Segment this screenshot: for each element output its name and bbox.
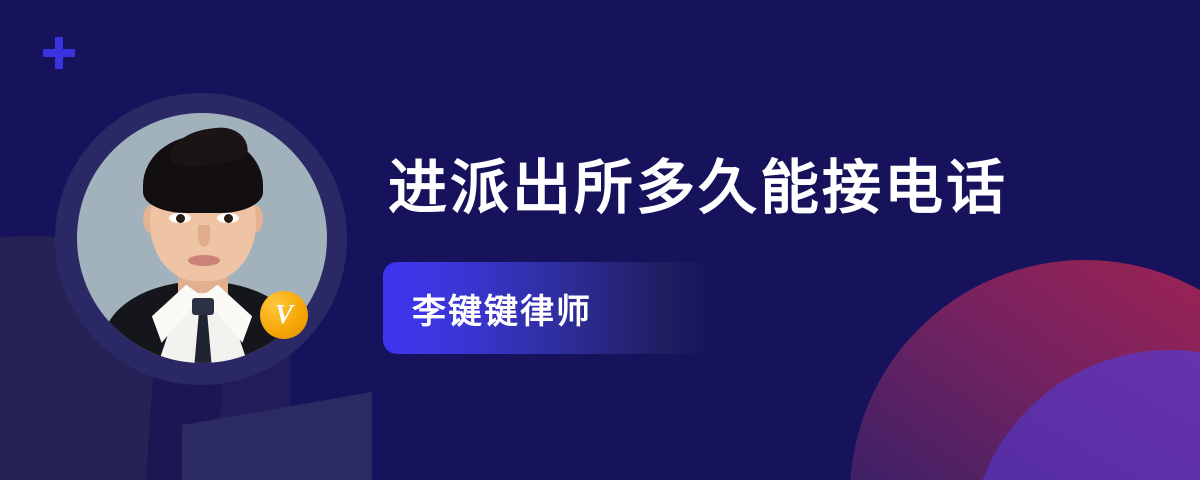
plus-icon-bar-vertical bbox=[55, 37, 63, 69]
portrait-pupil-left bbox=[176, 214, 185, 223]
lawyer-topic-banner: V 进派出所多久能接电话 李键键律师 bbox=[0, 0, 1200, 480]
avatar: V bbox=[55, 93, 347, 385]
verified-badge-letter: V bbox=[275, 301, 293, 328]
portrait-pupil-right bbox=[224, 214, 233, 223]
portrait-mouth bbox=[188, 255, 220, 266]
plus-icon bbox=[43, 37, 75, 69]
verified-badge-icon: V bbox=[260, 291, 308, 339]
lawyer-name-label: 李键键律师 bbox=[383, 284, 592, 333]
page-title: 进派出所多久能接电话 bbox=[388, 158, 1008, 217]
portrait-nose bbox=[198, 225, 210, 247]
lawyer-name-pill[interactable]: 李键键律师 bbox=[383, 262, 713, 354]
portrait-necktie-knot bbox=[192, 298, 214, 315]
